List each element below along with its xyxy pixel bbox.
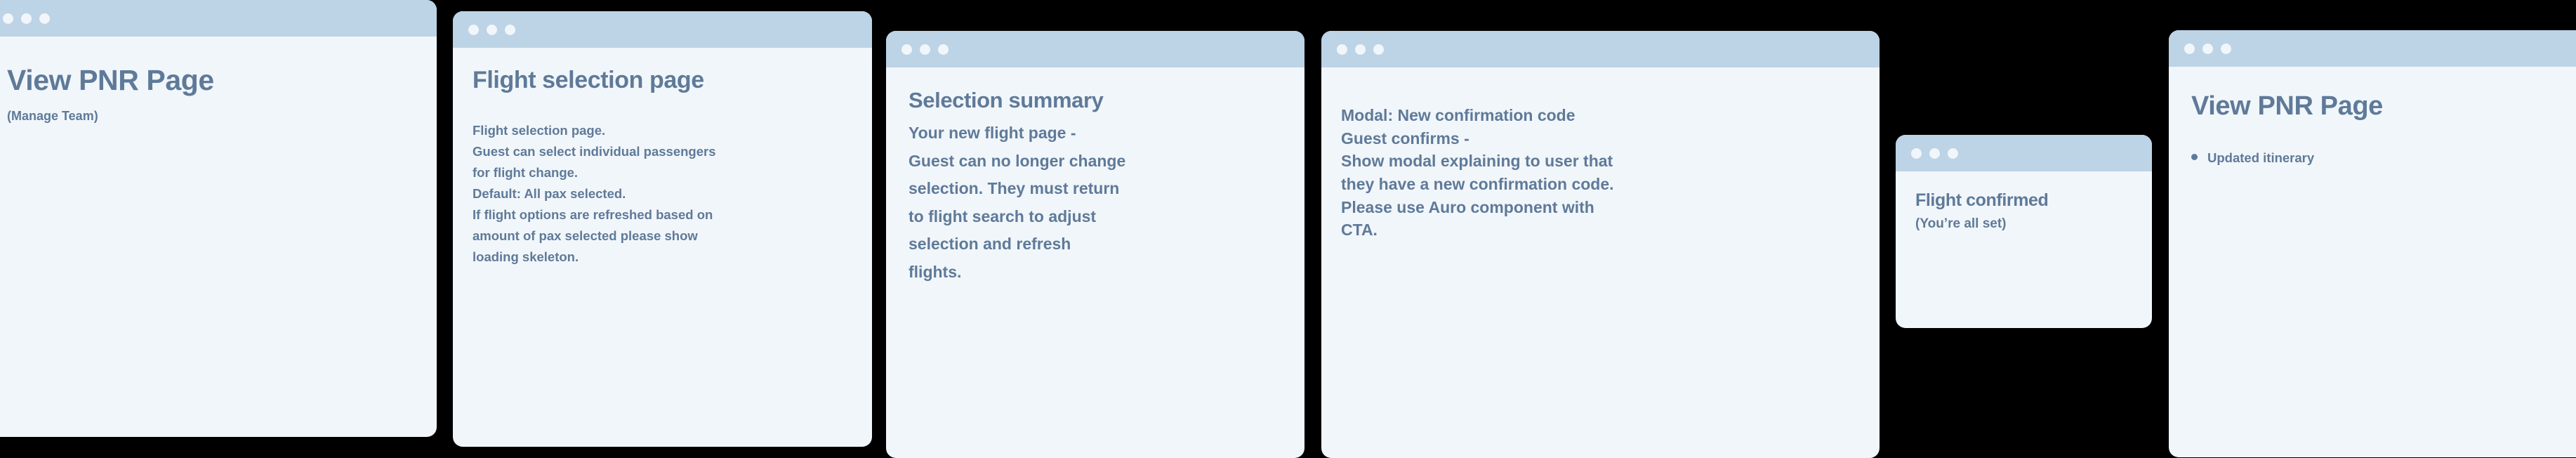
window-titlebar <box>453 11 872 48</box>
description-line: Default: All pax selected. <box>473 183 852 204</box>
window-dot-close-icon[interactable] <box>3 13 13 24</box>
window-titlebar <box>1321 31 1880 67</box>
card-body: View PNR Page (Manage Team) <box>0 37 437 124</box>
window-dot-minimize-icon[interactable] <box>920 44 930 55</box>
card-subtitle: (Manage Team) <box>7 109 417 124</box>
window-dot-minimize-icon[interactable] <box>1355 44 1366 55</box>
description-line: loading skeleton. <box>473 247 852 268</box>
card-description: Modal: New confirmation code Guest confi… <box>1341 104 1860 242</box>
description-line: to flight search to adjust <box>909 203 1285 231</box>
description-line: amount of pax selected please show <box>473 225 852 247</box>
card-subtitle: (You’re all set) <box>1915 216 2132 233</box>
description-line: for flight change. <box>473 162 852 183</box>
description-line: Guest confirms - <box>1341 127 1860 150</box>
card-description: Flight selection page. Guest can select … <box>473 120 852 268</box>
window-dot-close-icon[interactable] <box>901 44 912 55</box>
card-body: View PNR Page Updated itinerary <box>2169 67 2576 168</box>
window-dot-maximize-icon[interactable] <box>505 25 515 35</box>
window-dot-close-icon[interactable] <box>1337 44 1347 55</box>
window-dot-minimize-icon[interactable] <box>2202 44 2213 54</box>
window-dot-maximize-icon[interactable] <box>1948 148 1958 159</box>
description-line: selection and refresh <box>909 230 1285 259</box>
description-line: If flight options are refreshed based on <box>473 204 852 225</box>
window-dot-minimize-icon[interactable] <box>1929 148 1940 159</box>
card-body: Flight selection page Flight selection p… <box>453 48 872 268</box>
card-modal-new-confirmation-code[interactable]: Modal: New confirmation code Guest confi… <box>1321 31 1880 458</box>
card-flight-confirmed[interactable]: Flight confirmed (You’re all set) <box>1896 135 2152 328</box>
window-dot-close-icon[interactable] <box>468 25 479 35</box>
itinerary-bullet-list: Updated itinerary <box>2191 148 2569 168</box>
card-body: Modal: New confirmation code Guest confi… <box>1321 67 1880 242</box>
card-body: Selection summary Your new flight page -… <box>886 67 1304 286</box>
list-item-label: Updated itinerary <box>2207 148 2314 168</box>
card-title: View PNR Page <box>2191 92 2569 122</box>
card-selection-summary[interactable]: Selection summary Your new flight page -… <box>886 31 1304 458</box>
description-line: Guest can no longer change <box>909 148 1285 176</box>
card-flight-selection-page[interactable]: Flight selection page Flight selection p… <box>453 11 872 447</box>
window-titlebar <box>1896 135 2152 171</box>
flow-diagram-canvas: View PNR Page (Manage Team) Flight selec… <box>0 0 2576 458</box>
window-titlebar <box>886 31 1304 67</box>
description-line: Please use Auro component with <box>1341 196 1860 219</box>
card-title: Flight confirmed <box>1915 190 2132 211</box>
bullet-point-icon <box>2191 154 2198 160</box>
window-dot-minimize-icon[interactable] <box>21 13 32 24</box>
window-dot-minimize-icon[interactable] <box>487 25 497 35</box>
card-title: Selection summary <box>909 89 1285 112</box>
window-dot-maximize-icon[interactable] <box>1373 44 1384 55</box>
card-view-pnr-page-updated-itinerary[interactable]: View PNR Page Updated itinerary <box>2169 30 2576 457</box>
description-line: selection. They must return <box>909 175 1285 203</box>
window-dot-maximize-icon[interactable] <box>938 44 949 55</box>
card-view-pnr-page-manage-team[interactable]: View PNR Page (Manage Team) <box>0 0 437 437</box>
description-line: Modal: New confirmation code <box>1341 104 1860 127</box>
window-dot-close-icon[interactable] <box>2184 44 2195 54</box>
window-dot-maximize-icon[interactable] <box>2221 44 2231 54</box>
description-line: Guest can select individual passengers <box>473 141 852 162</box>
window-titlebar <box>2169 30 2576 67</box>
description-line: Show modal explaining to user that <box>1341 150 1860 173</box>
description-line: they have a new confirmation code. <box>1341 173 1860 196</box>
description-line: flights. <box>909 259 1285 287</box>
description-line: Your new flight page - <box>909 119 1285 148</box>
card-description: Your new flight page - Guest can no long… <box>909 119 1285 286</box>
card-title: View PNR Page <box>7 65 417 96</box>
description-line: CTA. <box>1341 218 1860 242</box>
card-title: Flight selection page <box>473 67 852 93</box>
window-dot-close-icon[interactable] <box>1911 148 1922 159</box>
card-body: Flight confirmed (You’re all set) <box>1896 171 2152 232</box>
description-line: Flight selection page. <box>473 120 852 141</box>
window-titlebar <box>0 0 437 37</box>
window-dot-maximize-icon[interactable] <box>39 13 50 24</box>
list-item: Updated itinerary <box>2191 148 2569 168</box>
